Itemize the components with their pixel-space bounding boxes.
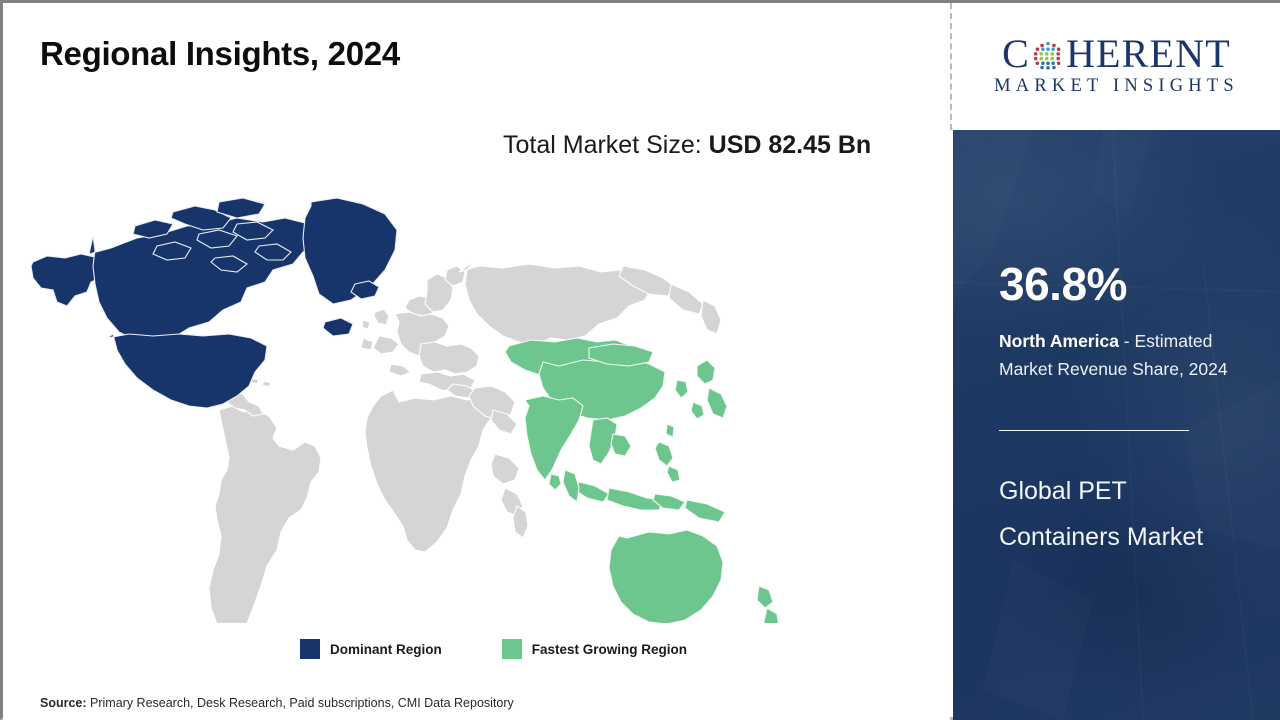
dominant-region-swatch [300,639,320,659]
market-name: Global PET Containers Market [999,469,1239,561]
share-region-name: North America [999,331,1119,351]
infographic-slide: Regional Insights, 2024 Total Market Siz… [0,0,1280,720]
market-size-value: USD 82.45 Bn [709,131,872,159]
dotted-globe-icon [1031,39,1065,73]
panel-divider-rule [999,430,1189,431]
total-market-size: Total Market Size: USD 82.45 Bn [503,129,913,162]
logo-letter-c: C [1002,34,1030,74]
share-percentage: 36.8% [999,261,1127,307]
map-legend: Dominant Region Fastest Growing Region [300,639,687,659]
source-text: Primary Research, Desk Research, Paid su… [87,696,514,710]
market-size-label: Total Market Size: [503,131,709,159]
stat-panel: 36.8% North America - Estimated Market R… [953,130,1280,720]
right-column: C [953,3,1280,720]
panel-texture-overlay [953,130,1280,720]
legend-item-dominant: Dominant Region [300,639,442,659]
fastest-growing-region-swatch [502,639,522,659]
world-map [23,188,833,623]
share-description: North America - Estimated Market Revenue… [999,327,1264,384]
page-title: Regional Insights, 2024 [40,35,400,73]
source-note: Source: Primary Research, Desk Research,… [40,696,514,710]
legend-label-fastest-growing: Fastest Growing Region [532,642,687,657]
logo-wordmark: C [1002,34,1231,74]
map-region-north-america [31,198,397,408]
source-label: Source: [40,696,87,710]
legend-item-fastest-growing: Fastest Growing Region [502,639,687,659]
vertical-dashed-divider [950,3,952,130]
logo-letters-herent: HERENT [1066,34,1231,74]
logo-tagline: MARKET INSIGHTS [994,77,1239,96]
legend-label-dominant: Dominant Region [330,642,442,657]
left-content-pane: Regional Insights, 2024 Total Market Siz… [3,3,950,720]
map-region-asia-pacific [505,338,779,623]
brand-logo: C [953,3,1280,130]
